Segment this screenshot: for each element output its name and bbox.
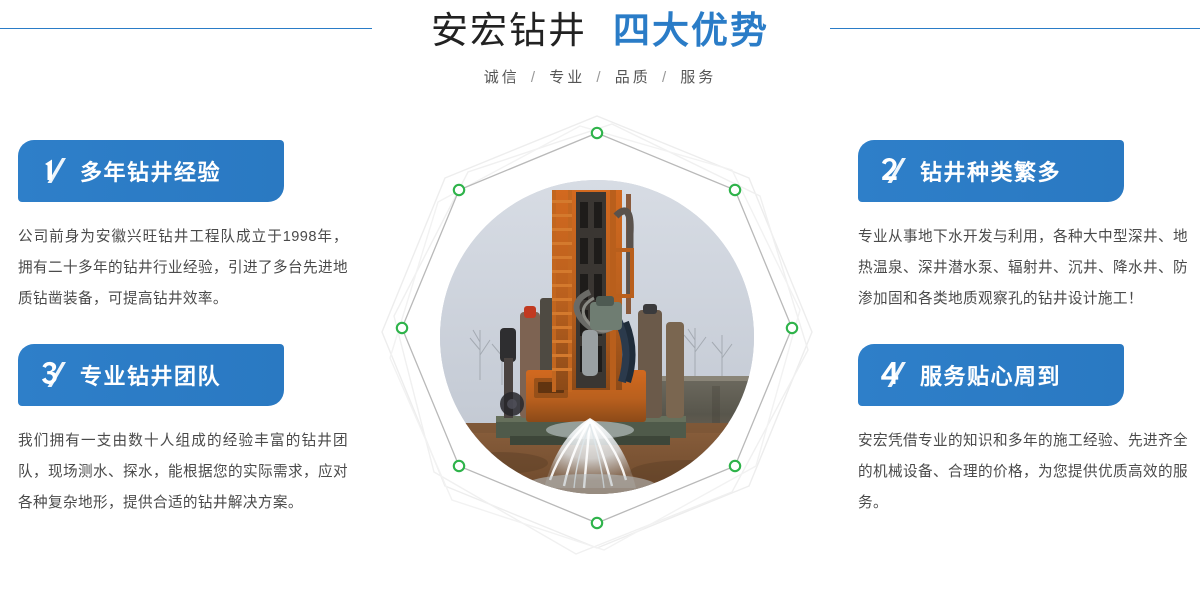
subtitle-item-2: 品质 [615,69,651,86]
page-header: 安宏钻井四大优势 诚信 / 专业 / 品质 / 服务 [0,0,1200,110]
title-company: 安宏钻井 [431,10,587,51]
page-title: 安宏钻井四大优势 [0,12,1200,49]
features-column-right: 钻井种类繁多 专业从事地下水开发与利用，各种大中型深井、地热温泉、深井潜水泵、辐… [858,140,1198,519]
feature-card-4[interactable]: 服务贴心周到 安宏凭借专业的知识和多年的施工经验、先进齐全的机械设备、合理的价格… [858,344,1198,519]
node-dot-top [592,128,602,138]
node-dot-bottom [592,518,602,528]
number-one-slash-icon [34,150,76,192]
subtitle-item-1: 专业 [549,69,585,86]
subtitle-separator-2: / [658,69,673,86]
feature-title-3: 专业钻井团队 [80,359,221,391]
feature-card-3[interactable]: 专业钻井团队 我们拥有一支由数十人组成的经验丰富的钻井团队，现场测水、探水，能根… [18,344,358,519]
feature-badge-2[interactable]: 钻井种类繁多 [858,140,1124,202]
subtitle-separator-1: / [592,69,607,86]
number-three-slash-icon [34,354,76,396]
center-graphic [380,110,814,570]
feature-card-2[interactable]: 钻井种类繁多 专业从事地下水开发与利用，各种大中型深井、地热温泉、深井潜水泵、辐… [858,140,1198,315]
promo-page: 安宏钻井四大优势 诚信 / 专业 / 品质 / 服务 多年钻井经验 [0,0,1200,600]
number-four-slash-icon [874,354,916,396]
features-column-left: 多年钻井经验 公司前身为安徽兴旺钻井工程队成立于1998年，拥有二十多年的钻井行… [18,140,358,519]
feature-body-4: 安宏凭借专业的知识和多年的施工经验、先进齐全的机械设备、合理的价格，为您提供优质… [858,426,1188,519]
feature-body-1: 公司前身为安徽兴旺钻井工程队成立于1998年，拥有二十多年的钻井行业经验，引进了… [18,222,348,315]
feature-title-1: 多年钻井经验 [80,155,221,187]
node-dot-left [397,323,407,333]
subtitle-item-3: 服务 [680,69,716,86]
feature-body-2: 专业从事地下水开发与利用，各种大中型深井、地热温泉、深井潜水泵、辐射井、沉井、降… [858,222,1188,315]
feature-badge-1[interactable]: 多年钻井经验 [18,140,284,202]
feature-body-3: 我们拥有一支由数十人组成的经验丰富的钻井团队，现场测水、探水，能根据您的实际需求… [18,426,348,519]
drilling-rig-photo [440,180,754,494]
feature-badge-4[interactable]: 服务贴心周到 [858,344,1124,406]
feature-card-1[interactable]: 多年钻井经验 公司前身为安徽兴旺钻井工程队成立于1998年，拥有二十多年的钻井行… [18,140,358,315]
subtitle-separator-0: / [527,69,542,86]
feature-title-4: 服务贴心周到 [920,359,1061,391]
title-highlight: 四大优势 [613,10,769,51]
feature-title-2: 钻井种类繁多 [920,155,1061,187]
subtitle-keywords: 诚信 / 专业 / 品质 / 服务 [0,66,1200,87]
feature-badge-3[interactable]: 专业钻井团队 [18,344,284,406]
number-two-slash-icon [874,150,916,192]
subtitle-item-0: 诚信 [484,69,520,86]
node-dot-right [787,323,797,333]
